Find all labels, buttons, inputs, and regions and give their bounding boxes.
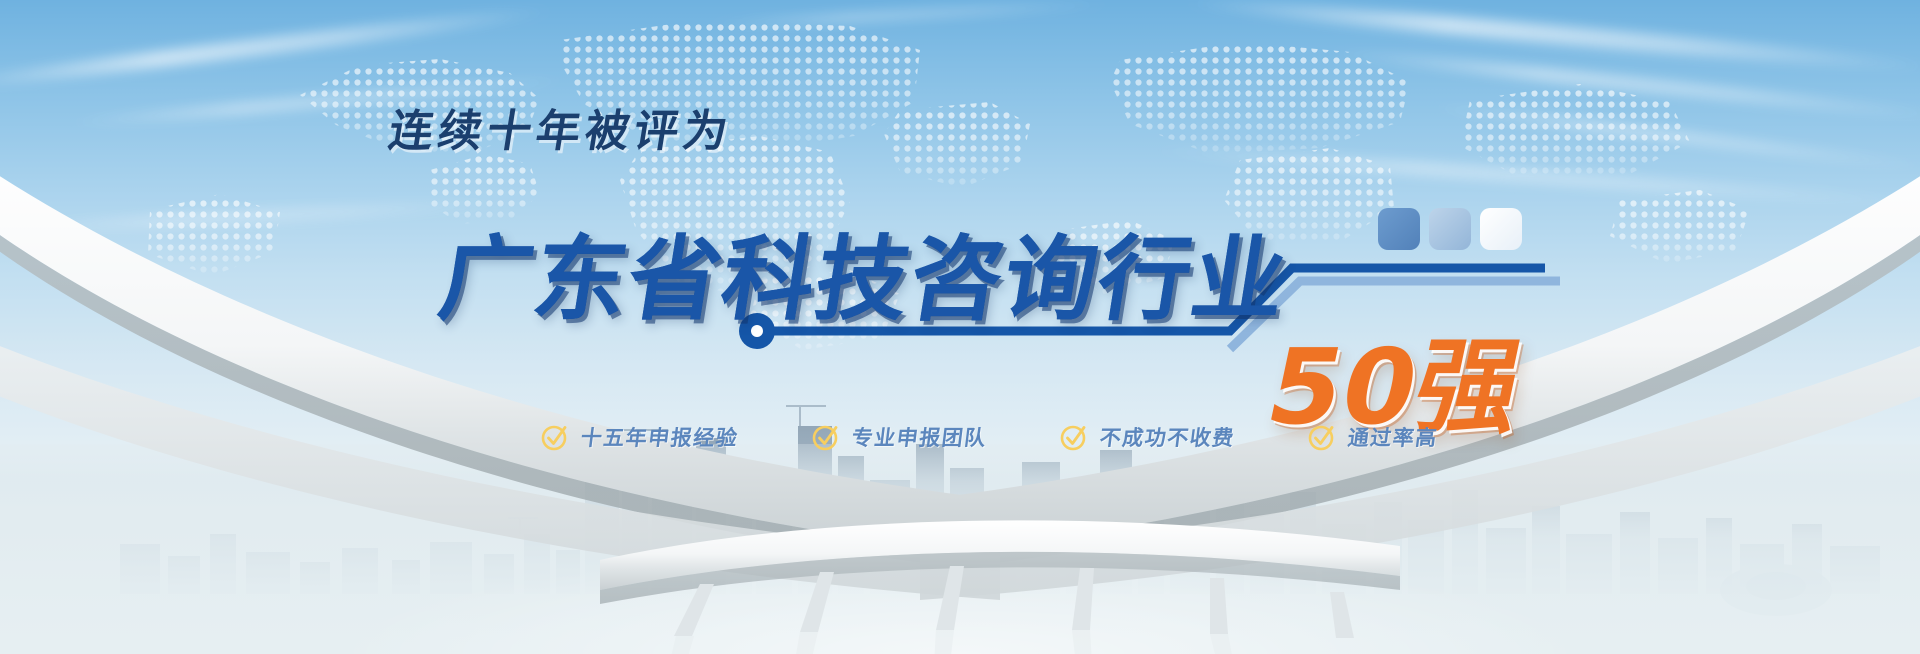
check-circle-icon	[1307, 422, 1337, 452]
check-circle-icon	[540, 422, 570, 452]
promo-banner: 连续十年被评为 广东省科技咨询行业 50强 十五年申报经验	[0, 0, 1920, 654]
page-title: 广东省科技咨询行业	[431, 205, 1298, 338]
decor-squares	[1378, 208, 1522, 250]
feature-badge: 不成功不收费	[1059, 422, 1235, 452]
feature-badge-label: 十五年申报经验	[579, 422, 740, 452]
feature-badge: 通过率高	[1307, 422, 1438, 452]
eyebrow-text: 连续十年被评为	[385, 95, 738, 159]
feature-badge-label: 不成功不收费	[1098, 422, 1237, 452]
feature-badge: 十五年申报经验	[540, 422, 739, 452]
feature-badge: 专业申报团队	[811, 422, 987, 452]
square-solid-blue-icon	[1378, 208, 1420, 250]
check-circle-icon	[1059, 422, 1089, 452]
feature-badge-label: 专业申报团队	[850, 422, 989, 452]
square-white-icon	[1480, 208, 1522, 250]
feature-badge-label: 通过率高	[1346, 422, 1440, 452]
feature-badge-list: 十五年申报经验 专业申报团队 不成功不收费	[540, 422, 1438, 452]
check-circle-icon	[811, 422, 841, 452]
square-mid-blue-icon	[1429, 208, 1471, 250]
